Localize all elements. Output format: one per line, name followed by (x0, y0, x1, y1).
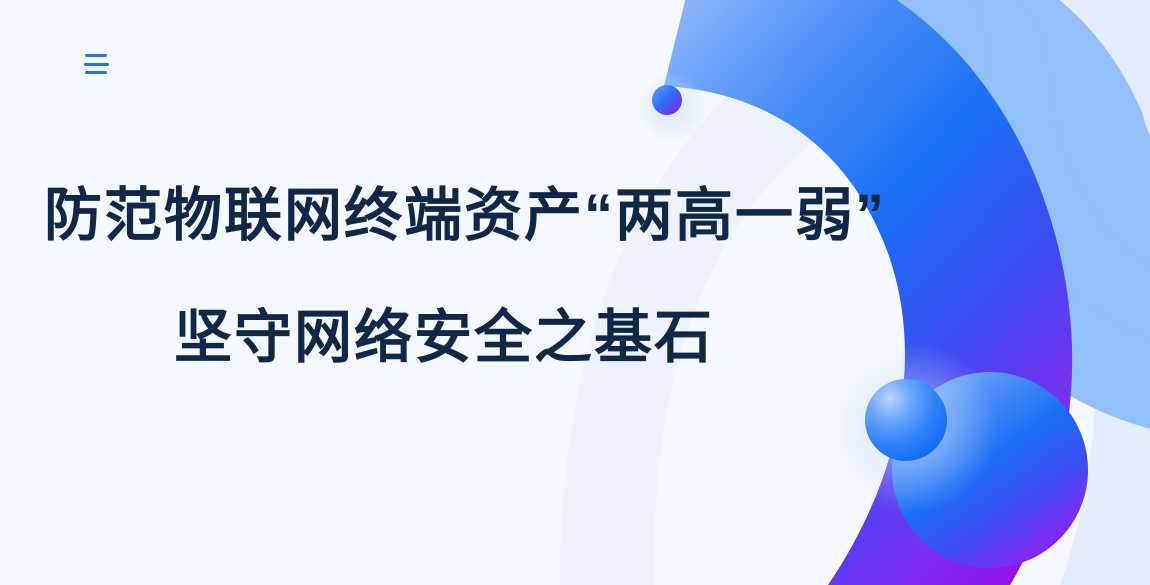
light-blue-arc (900, 0, 1150, 400)
small-sphere-glow (636, 72, 708, 144)
slide-canvas: 防范物联网终端资产“两高一弱” 坚守网络安全之基石 (0, 0, 1150, 585)
menu-bar-bottom (85, 71, 107, 74)
title-line-2: 坚守网络安全之基石 (0, 308, 844, 368)
swoosh-bottom-cap (892, 372, 1088, 568)
menu-bar-top (85, 54, 107, 57)
page-title: 防范物联网终端资产“两高一弱” 坚守网络安全之基石 (0, 186, 880, 369)
small-gradient-sphere (652, 85, 682, 115)
pale-blue-arc-overlay (1000, 0, 1150, 130)
title-line-1: 防范物联网终端资产“两高一弱” (0, 186, 880, 246)
large-blue-sphere (865, 379, 947, 461)
menu-bar-middle (84, 63, 109, 66)
hamburger-menu-icon[interactable] (84, 52, 112, 76)
